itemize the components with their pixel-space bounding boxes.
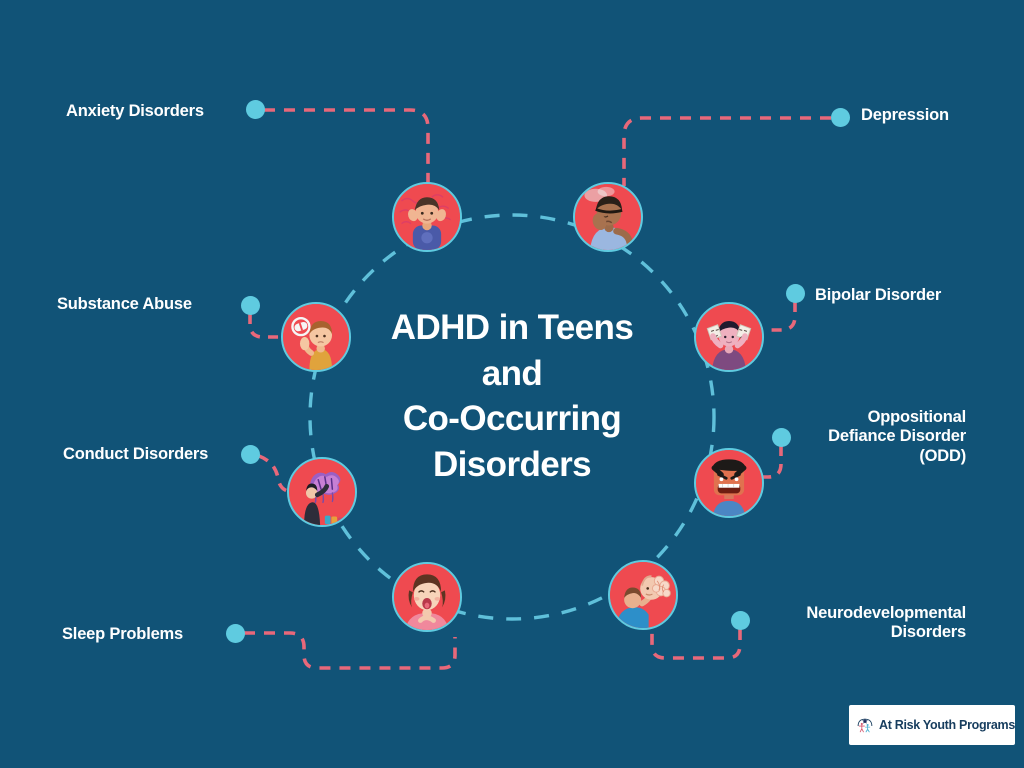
node-depression[interactable]: [573, 182, 643, 252]
angry-shouting-face-icon: [696, 450, 762, 516]
person-holding-two-masks-icon: [696, 304, 762, 370]
connector-bipolar: [766, 302, 795, 330]
node-oppositional-defiance-disorder[interactable]: [694, 448, 764, 518]
connector-substance: [250, 314, 280, 337]
node-sleep-problems[interactable]: [392, 562, 462, 632]
connector-neurodevelopmental: [652, 629, 740, 658]
label-sleep-problems: Sleep Problems: [62, 625, 232, 644]
at-risk-youth-programs-logo-icon: [856, 710, 874, 740]
teen-with-brain-icon: [610, 562, 676, 628]
page-title: ADHD in Teens and Co-Occurring Disorders: [332, 305, 692, 487]
connector-sleep: [244, 633, 455, 668]
connector-depression: [624, 118, 831, 186]
label-bipolar-disorder: Bipolar Disorder: [815, 286, 1015, 305]
node-neurodevelopmental-disorders[interactable]: [608, 560, 678, 630]
logo-text: At Risk Youth Programs: [879, 718, 1015, 732]
dot-anxiety-disorders[interactable]: [246, 100, 265, 119]
label-conduct-disorders: Conduct Disorders: [63, 445, 243, 464]
label-depression: Depression: [861, 106, 1011, 125]
infographic-canvas: ADHD in Teens and Co-Occurring Disorders…: [0, 0, 1024, 768]
node-bipolar-disorder[interactable]: [694, 302, 764, 372]
label-substance-abuse: Substance Abuse: [57, 295, 237, 314]
logo[interactable]: At Risk Youth Programs: [849, 705, 1015, 745]
label-anxiety-disorders: Anxiety Disorders: [66, 102, 236, 121]
sad-teen-hand-on-face-icon: [575, 184, 641, 250]
yawning-tired-girl-icon: [394, 564, 460, 630]
node-anxiety-disorders[interactable]: [392, 182, 462, 252]
dot-substance-abuse[interactable]: [241, 296, 260, 315]
dot-conduct-disorders[interactable]: [241, 445, 260, 464]
dot-depression[interactable]: [831, 108, 850, 127]
label-oppositional-defiance-disorder: Oppositional Defiance Disorder (ODD): [760, 408, 966, 466]
label-neurodevelopmental-disorders: Neurodevelopmental Disorders: [760, 604, 966, 643]
dot-neurodevelopmental-disorders[interactable]: [731, 611, 750, 630]
anxious-teen-holding-head-icon: [394, 184, 460, 250]
connector-anxiety: [264, 110, 428, 186]
dot-bipolar-disorder[interactable]: [786, 284, 805, 303]
